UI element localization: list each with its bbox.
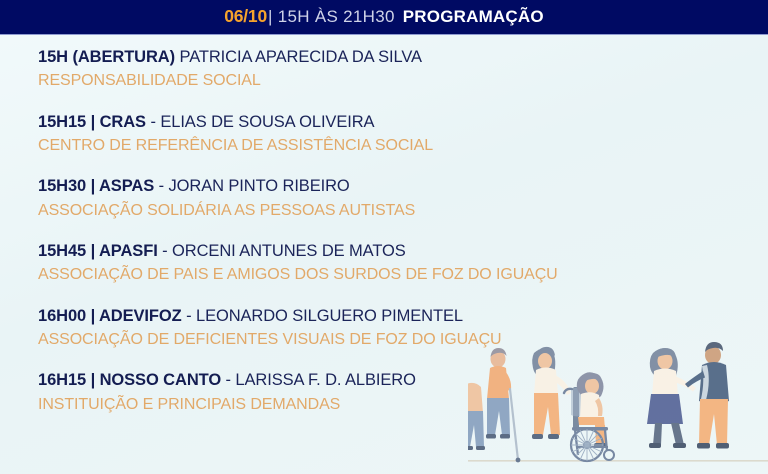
entry-title-line: 15H15 | CRAS - ELIAS DE SOUSA OLIVEIRA <box>38 113 738 132</box>
entry-person: - LEONARDO SILGUERO PIMENTEL <box>186 307 463 325</box>
entry-person: - LARISSA F. D. ALBIERO <box>226 371 416 389</box>
entry-slot: 15H45 | APASFI <box>38 242 158 260</box>
entry-title-line: 16H15 | NOSSO CANTO - LARISSA F. D. ALBI… <box>38 371 738 390</box>
entry-slot: 16H00 | ADEVIFOZ <box>38 307 182 325</box>
page-title: PROGRAMAÇÃO <box>403 8 544 25</box>
entry-subtitle: RESPONSABILIDADE SOCIAL <box>38 71 738 90</box>
schedule-entry: 15H45 | APASFI - ORCENI ANTUNES DE MATOS… <box>38 242 738 285</box>
entry-slot: 15H (ABERTURA) <box>38 48 175 66</box>
entry-title-line: 15H45 | APASFI - ORCENI ANTUNES DE MATOS <box>38 242 738 261</box>
schedule-entry: 15H15 | CRAS - ELIAS DE SOUSA OLIVEIRA C… <box>38 113 738 156</box>
entry-slot: 15H30 | ASPAS <box>38 177 154 195</box>
entry-subtitle: CENTRO DE REFERÊNCIA DE ASSISTÊNCIA SOCI… <box>38 136 738 155</box>
entry-person: - JORAN PINTO RIBEIRO <box>159 177 350 195</box>
entry-subtitle: ASSOCIAÇÃO SOLIDÁRIA AS PESSOAS AUTISTAS <box>38 201 738 220</box>
header-line: 06/10 | 15H ÀS 21H30 PROGRAMAÇÃO <box>224 8 544 26</box>
schedule-entry: 15H30 | ASPAS - JORAN PINTO RIBEIRO ASSO… <box>38 177 738 220</box>
entry-slot: 16H15 | NOSSO CANTO <box>38 371 221 389</box>
schedule-list: 15H (ABERTURA) PATRICIA APARECIDA DA SIL… <box>38 48 738 414</box>
header-time-range: | 15H ÀS 21H30 <box>268 8 395 25</box>
entry-subtitle: INSTITUIÇÃO E PRINCIPAIS DEMANDAS <box>38 395 738 414</box>
entry-title-line: 16H00 | ADEVIFOZ - LEONARDO SILGUERO PIM… <box>38 307 738 326</box>
entry-title-line: 15H30 | ASPAS - JORAN PINTO RIBEIRO <box>38 177 738 196</box>
entry-person: - ORCENI ANTUNES DE MATOS <box>162 242 406 260</box>
entry-person: - ELIAS DE SOUSA OLIVEIRA <box>150 113 374 131</box>
entry-slot: 15H15 | CRAS <box>38 113 146 131</box>
schedule-entry: 15H (ABERTURA) PATRICIA APARECIDA DA SIL… <box>38 48 738 91</box>
entry-title-line: 15H (ABERTURA) PATRICIA APARECIDA DA SIL… <box>38 48 738 67</box>
entry-subtitle: ASSOCIAÇÃO DE PAIS E AMIGOS DOS SURDOS D… <box>38 265 738 284</box>
schedule-entry: 16H00 | ADEVIFOZ - LEONARDO SILGUERO PIM… <box>38 307 738 350</box>
header-date: 06/10 <box>224 8 267 26</box>
schedule-entry: 16H15 | NOSSO CANTO - LARISSA F. D. ALBI… <box>38 371 738 414</box>
header-bar: 06/10 | 15H ÀS 21H30 PROGRAMAÇÃO <box>0 0 768 34</box>
programacao-poster: 06/10 | 15H ÀS 21H30 PROGRAMAÇÃO <box>0 0 768 474</box>
entry-subtitle: ASSOCIAÇÃO DE DEFICIENTES VISUAIS DE FOZ… <box>38 330 738 349</box>
entry-person: PATRICIA APARECIDA DA SILVA <box>180 48 422 66</box>
